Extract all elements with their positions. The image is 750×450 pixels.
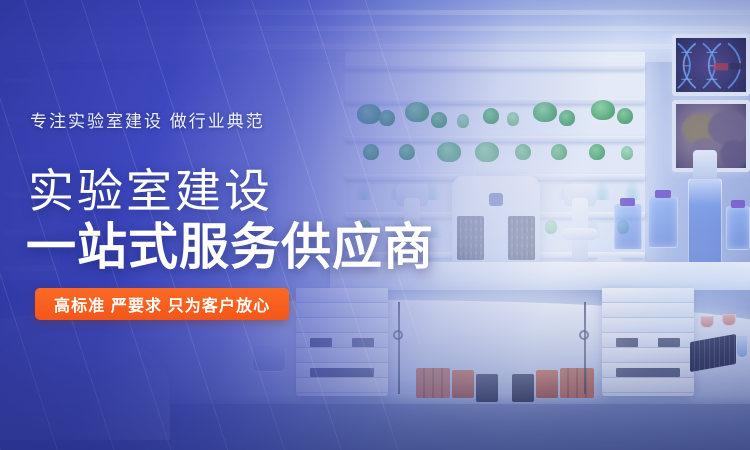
slogan-badge-label: 高标准 严要求 只为客户放心 bbox=[54, 292, 270, 316]
banner-subtitle: 专注实验室建设 做行业典范 bbox=[30, 107, 265, 132]
slogan-badge[interactable]: 高标准 严要求 只为客户放心 bbox=[35, 288, 289, 320]
headline-line-2: 一站式服务供应商 bbox=[26, 222, 434, 272]
headline-line-1: 实验室建设 bbox=[28, 168, 273, 214]
lab-construction-banner: 专注实验室建设 做行业典范 实验室建设 一站式服务供应商 高标准 严要求 只为客… bbox=[0, 0, 750, 450]
banner-content: 专注实验室建设 做行业典范 实验室建设 一站式服务供应商 高标准 严要求 只为客… bbox=[0, 0, 750, 450]
